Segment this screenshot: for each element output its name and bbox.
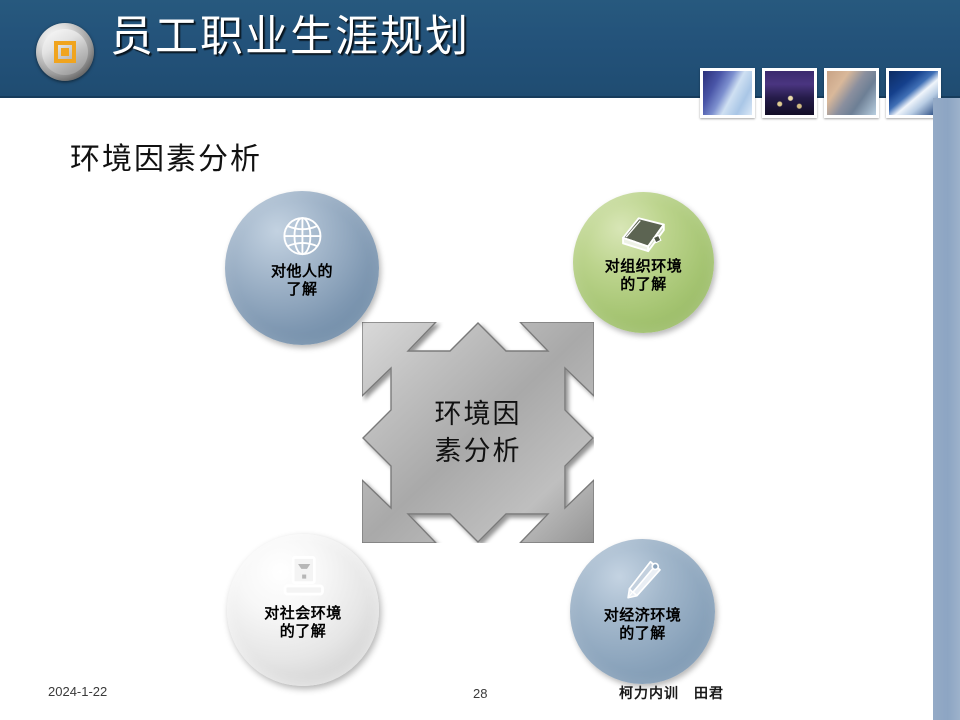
diagram-node-others-label: 对他人的 了解 xyxy=(271,263,333,300)
person-on-phone-photo-icon xyxy=(827,71,876,115)
thumbnail-glass-tower-photo xyxy=(700,68,755,118)
thumbnail-night-cityscape-photo xyxy=(762,68,817,118)
center-quad-arrow-shape: 环境因 素分析 xyxy=(362,322,594,543)
white-building-photo-icon xyxy=(889,71,938,115)
node-econ-line-2: 的了解 xyxy=(604,625,682,643)
node-others-line-1: 对他人的 xyxy=(271,263,333,281)
brand-logo xyxy=(36,23,94,81)
header-title: 员工职业生涯规划 xyxy=(110,14,470,61)
header-thumbnail-strip xyxy=(700,68,941,118)
page-title: 环境因素分析 xyxy=(70,134,262,178)
node-others-line-2: 了解 xyxy=(271,281,333,299)
footer-author: 柯力内训 田君 xyxy=(619,683,724,703)
logo-square-fill xyxy=(61,48,69,56)
node-society-line-2: 的了解 xyxy=(264,623,342,641)
diagram-node-organization-label: 对组织环境 的了解 xyxy=(605,258,683,295)
diagram-node-society-label: 对社会环境 的了解 xyxy=(264,605,342,642)
night-cityscape-photo-icon xyxy=(765,71,814,115)
computer-icon xyxy=(268,555,338,601)
footer-date: 2024-1-22 xyxy=(48,684,107,699)
diagram-node-society[interactable]: 对社会环境 的了解 xyxy=(227,534,379,686)
node-org-line-1: 对组织环境 xyxy=(605,258,683,276)
logo-square-outline xyxy=(54,41,76,63)
pencil-icon xyxy=(609,559,676,603)
quad-arrow-icon xyxy=(362,322,594,543)
diagram-node-others[interactable]: 对他人的 了解 xyxy=(225,191,379,345)
thumbnail-person-on-phone-photo xyxy=(824,68,879,118)
node-society-line-1: 对社会环境 xyxy=(264,605,342,623)
diagram-node-economy[interactable]: 对经济环境 的了解 xyxy=(570,539,715,684)
diagram-node-economy-label: 对经济环境 的了解 xyxy=(604,607,682,644)
book-icon xyxy=(611,212,676,254)
node-org-line-2: 的了解 xyxy=(605,276,683,294)
logo-inner-disc xyxy=(42,29,88,75)
glass-tower-photo-icon xyxy=(703,71,752,115)
diagram-node-organization[interactable]: 对组织环境 的了解 xyxy=(573,192,714,333)
right-accent-band xyxy=(933,98,960,720)
node-econ-line-1: 对经济环境 xyxy=(604,607,682,625)
globe-icon xyxy=(267,213,338,259)
metallic-square-logo-icon xyxy=(36,23,94,81)
footer-page-number: 28 xyxy=(473,686,487,701)
slide: 员工职业生涯规划 环境因素分析 xyxy=(0,0,960,720)
